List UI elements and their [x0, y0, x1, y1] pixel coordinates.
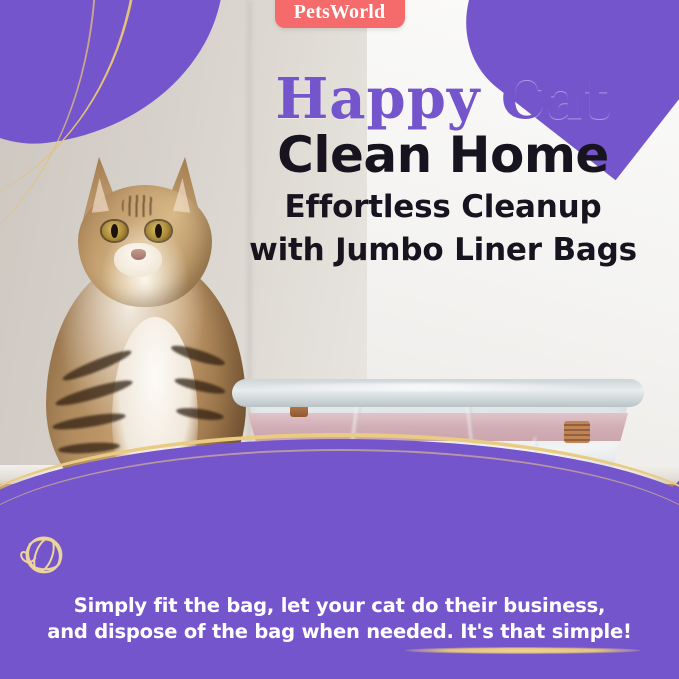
cat-photo [38, 151, 253, 511]
litter-box-product [232, 373, 644, 503]
cat-paw-right [154, 489, 204, 516]
cat-paw-left [110, 490, 158, 516]
cat-pupil-right [155, 224, 162, 238]
brand-logo-text: PetsWorld [291, 2, 389, 22]
gold-brush-underline [405, 647, 641, 654]
brand-logo-badge[interactable]: PetsWorld [275, 0, 405, 28]
footer-message-block: Simply fit the bag, let your cat do thei… [0, 593, 679, 645]
product-banner: PetsWorld Happy Cat Clean Home Effortles… [0, 0, 679, 679]
cat-pupil-left [111, 224, 118, 238]
litter-box-handle-right [564, 421, 590, 443]
headline-secondary: Clean Home [229, 129, 657, 182]
liner-bag-rim-highlight [258, 383, 588, 391]
subheadline-line-2: with Jumbo Liner Bags [229, 233, 657, 268]
headline-block: Happy Cat Clean Home Effortless Cleanup … [229, 72, 657, 269]
footer-line-2: and dispose of the bag when needed. It's… [22, 619, 657, 645]
subheadline-line-1: Effortless Cleanup [229, 190, 657, 225]
headline-primary: Happy Cat [229, 72, 657, 127]
footer-line-1: Simply fit the bag, let your cat do thei… [22, 593, 657, 619]
cat-nose [131, 249, 146, 260]
cat-forehead-markings [122, 195, 156, 217]
